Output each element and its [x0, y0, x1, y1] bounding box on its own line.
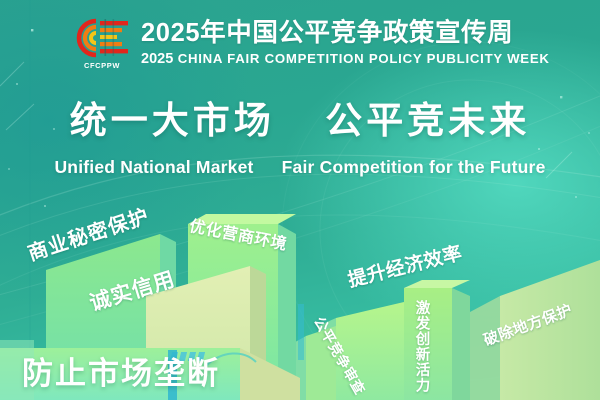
- block-label-innovation-vitality: 激发创新活力: [414, 300, 429, 393]
- slogan-cn-left: 统一大市场: [70, 101, 275, 142]
- slogan-en-left: Unified National Market: [54, 157, 253, 177]
- header-title-en: 2025 CHINA FAIR COMPETITION POLICY PUBLI…: [141, 51, 550, 67]
- header-title-en-year: 2025: [141, 51, 173, 67]
- slogan-chinese: 统一大市场 公平竞未来: [0, 99, 600, 145]
- header-titles: 2025年中国公平竞争政策宣传周 2025 CHINA FAIR COMPETI…: [141, 19, 550, 67]
- arc-logo-icon: [74, 17, 130, 59]
- slogan-en-right: Fair Competition for the Future: [282, 157, 546, 177]
- city-skyline: 商业秘密保护 诚实信用 优化营商环境 提升经济效率 公平竞争审查 激发创新活力 …: [0, 200, 600, 400]
- block-label-prevent-monopoly: 防止市场垄断: [22, 348, 220, 393]
- slogan-cn-right: 公平竞未来: [325, 101, 530, 142]
- cfcppw-logo: CFCPPW: [74, 17, 130, 69]
- poster-header: CFCPPW 2025年中国公平竞争政策宣传周 2025 CHINA FAIR …: [74, 17, 550, 69]
- slogan-english: Unified National Market Fair Competition…: [0, 157, 600, 178]
- header-title-en-rest: CHINA FAIR COMPETITION POLICY PUBLICITY …: [178, 51, 550, 66]
- poster-canvas: CFCPPW 2025年中国公平竞争政策宣传周 2025 CHINA FAIR …: [0, 0, 600, 400]
- header-title-cn: 2025年中国公平竞争政策宣传周: [141, 20, 550, 48]
- logo-acronym: CFCPPW: [74, 61, 130, 70]
